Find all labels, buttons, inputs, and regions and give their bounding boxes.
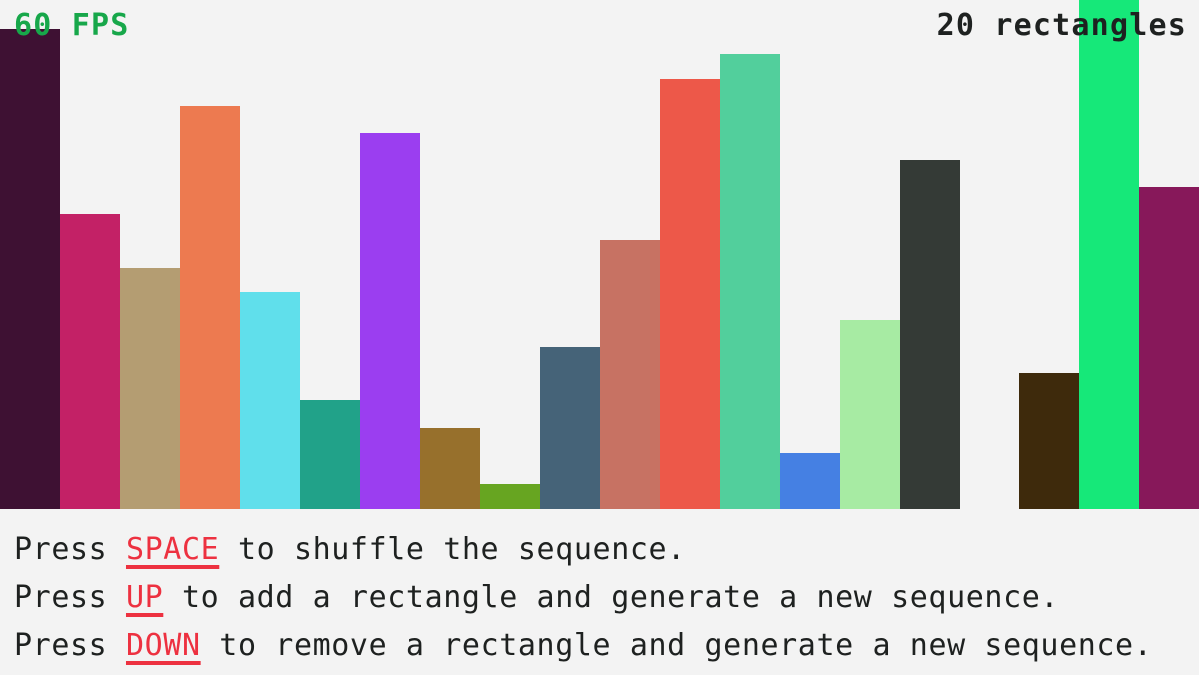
instruction-suffix: to shuffle the sequence. — [219, 532, 686, 567]
fps-counter: 60 FPS — [14, 8, 130, 43]
bar-rectangle — [180, 106, 240, 509]
bar-rectangle — [480, 484, 540, 509]
bar-rectangle — [660, 79, 720, 509]
bar-rectangle — [360, 133, 420, 509]
bar-rectangle — [420, 428, 480, 509]
key-hint-up[interactable]: UP — [126, 580, 163, 615]
instruction-suffix: to add a rectangle and generate a new se… — [163, 580, 1059, 615]
instructions-panel: Press SPACE to shuffle the sequence.Pres… — [0, 512, 1199, 675]
bar-rectangle — [1079, 0, 1139, 509]
bar-rectangle — [540, 347, 600, 509]
key-hint-down[interactable]: DOWN — [126, 628, 201, 663]
bar-rectangle — [780, 453, 840, 509]
bar-rectangle — [840, 320, 900, 509]
instruction-prefix: Press — [14, 580, 126, 615]
rectangle-count-label: 20 rectangles — [937, 8, 1187, 43]
bar-rectangle — [600, 240, 660, 509]
instruction-suffix: to remove a rectangle and generate a new… — [201, 628, 1153, 663]
instruction-line: Press DOWN to remove a rectangle and gen… — [14, 622, 1199, 670]
game-canvas: 60 FPS 20 rectangles Press SPACE to shuf… — [0, 0, 1199, 675]
bar-chart — [0, 0, 1199, 510]
instruction-line: Press SPACE to shuffle the sequence. — [14, 526, 1199, 574]
instruction-line: Press UP to add a rectangle and generate… — [14, 574, 1199, 622]
bar-rectangle — [300, 400, 360, 509]
bar-rectangle — [1019, 373, 1079, 509]
bar-rectangle — [720, 54, 780, 509]
key-hint-space[interactable]: SPACE — [126, 532, 219, 567]
bar-rectangle — [120, 268, 180, 509]
instruction-prefix: Press — [14, 532, 126, 567]
bar-rectangle — [0, 29, 60, 509]
bar-rectangle — [60, 214, 120, 509]
bar-rectangle — [1139, 187, 1199, 509]
bar-rectangle — [240, 292, 300, 509]
instruction-prefix: Press — [14, 628, 126, 663]
bar-rectangle — [900, 160, 960, 509]
